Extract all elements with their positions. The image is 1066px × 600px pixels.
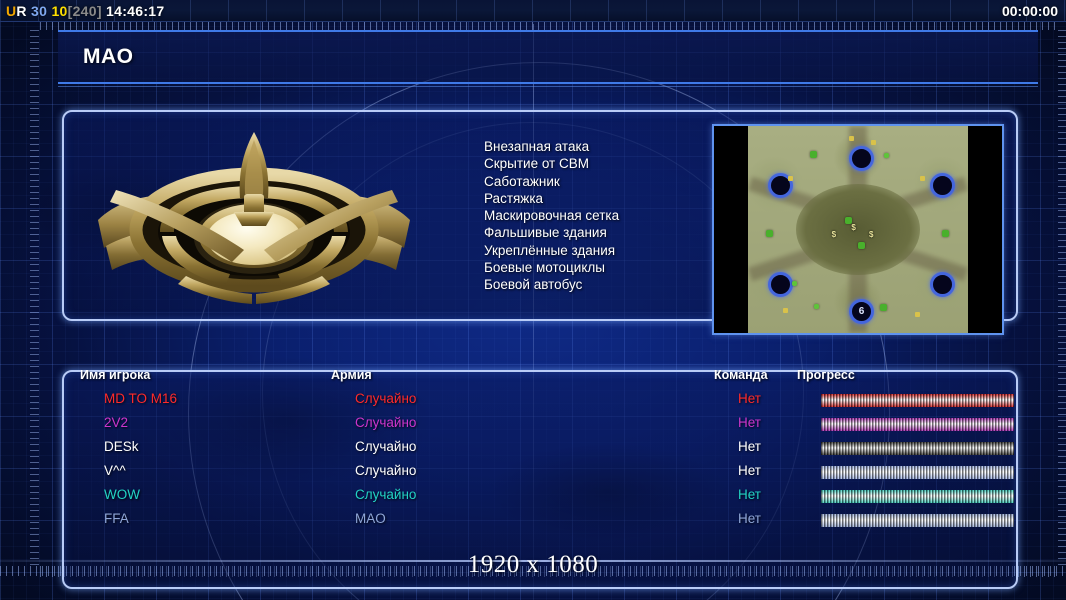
table-row[interactable]: DESkСлучайноНет xyxy=(104,438,1034,462)
column-header-progress: Прогресс xyxy=(797,368,855,382)
ability-item: Скрытие от СВМ xyxy=(484,155,744,172)
column-header-army: Армия xyxy=(331,368,372,382)
ability-item: Фальшивые здания xyxy=(484,224,744,241)
topbar-stats: UR 30 10[240] 14:46:17 xyxy=(0,3,164,19)
topbar-r-label: R xyxy=(16,3,26,19)
player-progress-bar xyxy=(821,490,1014,503)
ability-item: Внезапная атака xyxy=(484,138,744,155)
resolution-label: 1920 x 1080 xyxy=(0,551,1066,579)
ruler-top xyxy=(40,21,1056,30)
ability-item: Боевые мотоциклы xyxy=(484,259,744,276)
player-army[interactable]: Случайно xyxy=(355,487,416,502)
player-name: MD TO M16 xyxy=(104,391,177,406)
ability-item: Укреплённые здания xyxy=(484,242,744,259)
gla-faction-emblem-icon xyxy=(94,128,414,306)
player-progress-bar xyxy=(821,442,1014,455)
player-army[interactable]: Случайно xyxy=(355,439,416,454)
topbar-value-30: 30 xyxy=(31,3,47,19)
faction-ability-list: Внезапная атака Скрытие от СВМ Саботажни… xyxy=(484,138,744,294)
player-team[interactable]: Нет xyxy=(738,439,761,454)
column-header-name: Имя игрока xyxy=(80,368,150,382)
player-progress-bar xyxy=(821,466,1014,479)
map-terrain: 6 $ $ xyxy=(748,126,968,333)
table-row[interactable]: 2V2СлучайноНет xyxy=(104,414,1034,438)
topbar-clock: 14:46:17 xyxy=(106,3,164,19)
progress-stripes xyxy=(821,394,1014,407)
table-row[interactable]: V^^СлучайноНет xyxy=(104,462,1034,486)
player-army[interactable]: Случайно xyxy=(355,463,416,478)
player-name: WOW xyxy=(104,487,140,502)
player-team[interactable]: Нет xyxy=(738,415,761,430)
player-army[interactable]: Случайно xyxy=(355,391,416,406)
topbar-value-10: 10 xyxy=(51,3,67,19)
topbar-bracket-value: [240] xyxy=(68,3,102,19)
map-preview[interactable]: 6 $ $ xyxy=(712,124,1004,335)
topbar-timer: 00:00:00 xyxy=(1002,3,1058,19)
player-name: DESk xyxy=(104,439,139,454)
table-column-headers: Имя игрока Армия Команда Прогресс xyxy=(80,368,1040,386)
progress-stripes xyxy=(821,466,1014,479)
map-start-position xyxy=(768,272,793,297)
top-status-bar: UR 30 10[240] 14:46:17 00:00:00 xyxy=(0,0,1066,22)
player-rows: MD TO M16СлучайноНет2V2СлучайноНетDESkСл… xyxy=(104,390,1034,534)
player-team[interactable]: Нет xyxy=(738,511,761,526)
player-name: 2V2 xyxy=(104,415,128,430)
ability-item: Саботажник xyxy=(484,173,744,190)
map-start-position: 6 xyxy=(849,299,874,324)
table-row[interactable]: FFAMAOНет xyxy=(104,510,1034,534)
progress-stripes xyxy=(821,418,1014,431)
column-header-team: Команда xyxy=(714,368,768,382)
topbar-u-label: U xyxy=(6,3,16,19)
player-progress-bar xyxy=(821,394,1014,407)
title-bar: MAO xyxy=(58,30,1038,84)
ability-items: Внезапная атака Скрытие от СВМ Саботажни… xyxy=(484,138,744,294)
ability-item: Боевой автобус xyxy=(484,276,744,293)
player-team[interactable]: Нет xyxy=(738,463,761,478)
table-row[interactable]: WOWСлучайноНет xyxy=(104,486,1034,510)
map-start-position xyxy=(849,146,874,171)
ruler-left xyxy=(30,30,39,565)
player-progress-bar xyxy=(821,514,1014,527)
player-army[interactable]: Случайно xyxy=(355,415,416,430)
progress-stripes xyxy=(821,442,1014,455)
player-team[interactable]: Нет xyxy=(738,391,761,406)
game-lobby-screen: UR 30 10[240] 14:46:17 00:00:00 MAO xyxy=(0,0,1066,600)
table-row[interactable]: MD TO M16СлучайноНет xyxy=(104,390,1034,414)
progress-stripes xyxy=(821,490,1014,503)
page-title: MAO xyxy=(83,45,134,69)
map-start-position xyxy=(930,272,955,297)
player-army[interactable]: MAO xyxy=(355,511,386,526)
player-progress-bar xyxy=(821,418,1014,431)
player-name: V^^ xyxy=(104,463,126,478)
lobby-frame: MAO xyxy=(40,30,1056,565)
progress-stripes xyxy=(821,514,1014,527)
player-name: FFA xyxy=(104,511,129,526)
player-team[interactable]: Нет xyxy=(738,487,761,502)
ruler-right xyxy=(1058,30,1066,565)
faction-info-panel: Внезапная атака Скрытие от СВМ Саботажни… xyxy=(62,110,1018,321)
ability-item: Маскировочная сетка xyxy=(484,207,744,224)
ability-item: Растяжка xyxy=(484,190,744,207)
